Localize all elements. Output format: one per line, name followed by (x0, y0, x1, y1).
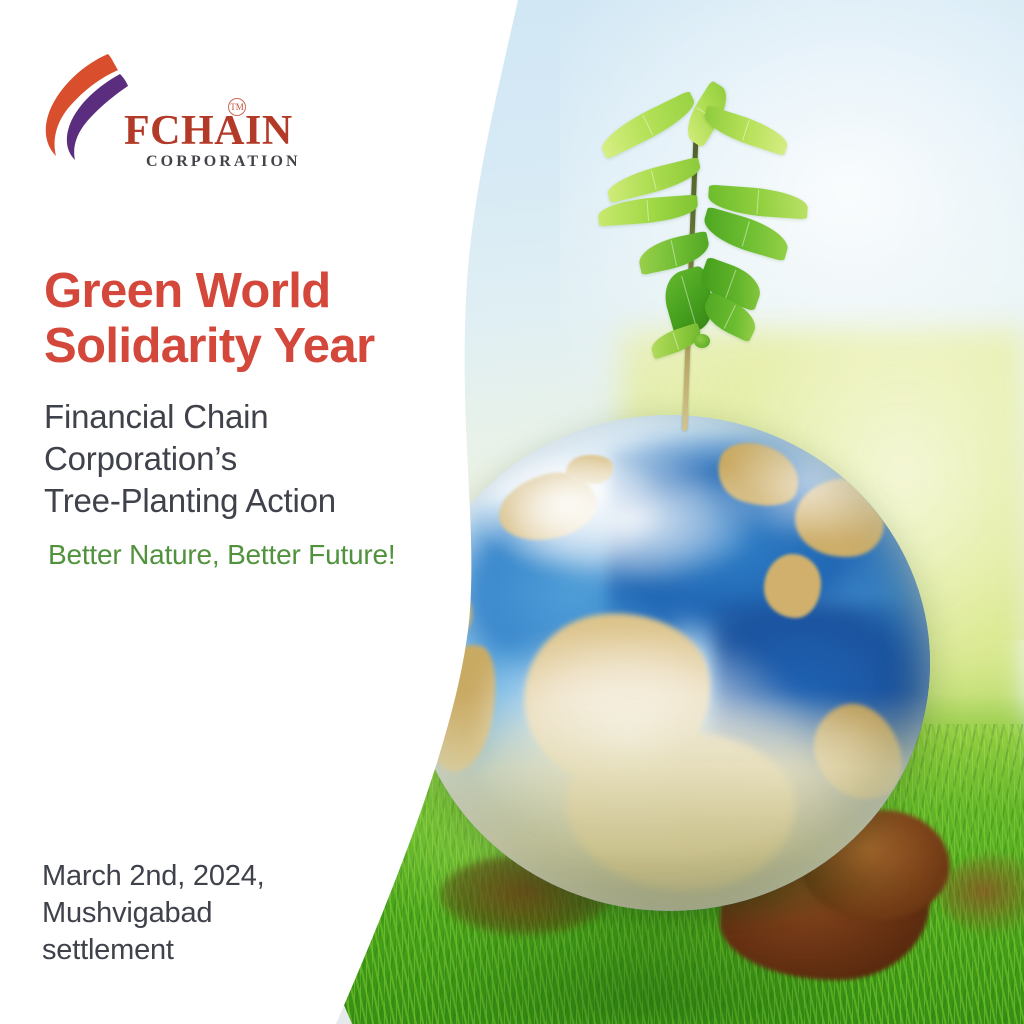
leaf-vein (643, 115, 654, 135)
headline-line-1: Green World (44, 264, 514, 319)
fchain-flame-logo-icon (36, 48, 136, 163)
event-details: March 2nd, 2024, Mushvigabad settlement (42, 858, 372, 969)
leaf-vein (647, 200, 650, 221)
leaf-vein (724, 305, 736, 328)
leaf-vein (672, 332, 679, 350)
leaf-vein (742, 221, 751, 247)
leaf-vein (756, 190, 759, 214)
headline-line-2: Solidarity Year (44, 319, 514, 374)
page-title: Green World Solidarity Year (44, 264, 514, 374)
poster-content: FCHAIN TM CORPORATION Green World Solida… (0, 0, 560, 1024)
fchain-corporation-logo[interactable]: FCHAIN TM CORPORATION (36, 48, 266, 188)
subtitle-line-1: Financial Chain (44, 396, 514, 438)
leaf-vein (651, 170, 657, 190)
event-location-line-1: Mushvigabad (42, 895, 372, 932)
event-location-line-2: settlement (42, 932, 372, 969)
leaf-vein (681, 276, 697, 326)
logo-descriptor: CORPORATION (146, 153, 301, 171)
page-subtitle: Financial Chain Corporation’s Tree-Plant… (44, 396, 514, 523)
leaf-vein (671, 241, 678, 266)
subtitle-line-2: Corporation’s (44, 438, 514, 480)
event-date: March 2nd, 2024, (42, 858, 372, 895)
logo-wordmark: FCHAIN (124, 108, 293, 154)
poster-canvas: FCHAIN TM CORPORATION Green World Solida… (0, 0, 1024, 1024)
trademark-icon: TM (228, 98, 246, 116)
subtitle-line-3: Tree-Planting Action (44, 480, 514, 522)
sapling-leaf-1 (596, 91, 701, 160)
sapling-leaf-3 (700, 105, 791, 156)
logo-wordmark-group: FCHAIN TM CORPORATION (124, 110, 301, 171)
sapling-leaf-13 (694, 334, 710, 348)
tagline: Better Nature, Better Future! (48, 538, 518, 572)
leaf-vein (742, 120, 750, 140)
leaf-vein (725, 270, 737, 299)
tree-sapling (590, 90, 850, 440)
